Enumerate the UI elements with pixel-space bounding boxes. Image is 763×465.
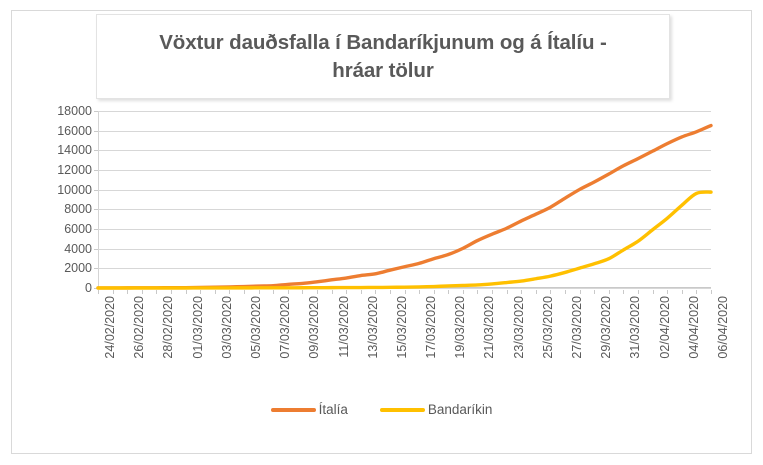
chart-title-line-1: Vöxtur dauðsfalla í Bandaríkjunum og á Í… [159,31,607,54]
x-axis-tick-mark [302,290,303,294]
y-axis-tick-label: 8000 [18,202,92,216]
x-axis-tick-label: 27/03/2020 [570,296,584,359]
x-axis-tick-mark [317,290,318,294]
legend-item[interactable]: Bandaríkin [380,402,493,417]
x-axis-tick-label: 03/03/2020 [220,296,234,359]
y-axis-tick-label: 16000 [18,124,92,138]
x-axis-tick-mark [594,290,595,294]
x-axis-tick-label: 28/02/2020 [161,296,175,359]
x-axis-tick-mark [507,290,508,294]
x-axis-tick-label: 04/04/2020 [687,296,701,359]
x-axis-tick-label: 07/03/2020 [278,296,292,359]
x-axis-tick-mark [477,290,478,294]
x-axis-tick-mark [536,290,537,294]
x-axis-tick-label: 11/03/2020 [337,296,351,358]
x-axis-tick-label: 26/02/2020 [132,296,146,359]
x-axis-tick-mark [156,290,157,294]
x-axis-tick-mark [186,290,187,294]
x-axis-tick-label: 05/03/2020 [249,296,263,359]
x-axis-tick-mark [696,290,697,294]
x-axis-tick-mark [361,290,362,294]
x-axis-tick-label: 29/03/2020 [599,296,613,359]
y-axis-tick-label: 12000 [18,163,92,177]
x-axis-tick-label: 06/04/2020 [716,296,730,359]
x-axis-tick-mark [244,290,245,294]
x-axis-tick-mark [653,290,654,294]
x-axis-tick-label: 24/02/2020 [103,296,117,359]
x-axis-tick-mark [171,290,172,294]
x-axis: 24/02/202026/02/202028/02/202001/03/2020… [98,290,711,390]
y-axis-tick-label: 0 [18,281,92,295]
x-axis-tick-mark [521,290,522,294]
y-axis-tick-label: 6000 [18,222,92,236]
x-axis-tick-mark [332,290,333,294]
x-axis-tick-label: 02/04/2020 [658,296,672,359]
x-axis-tick-label: 15/03/2020 [395,296,409,359]
x-axis-tick-mark [113,290,114,294]
x-axis-tick-mark [215,290,216,294]
plot-area [98,111,711,288]
x-axis-tick-label: 09/03/2020 [307,296,321,359]
x-axis-tick-mark [448,290,449,294]
x-axis-tick-mark [200,290,201,294]
x-axis-tick-mark [419,290,420,294]
x-axis-tick-mark [229,290,230,294]
page-title: Vöxtur dauðsfalla í Bandaríkjunum og á Í… [159,29,607,84]
x-axis-tick-mark [711,290,712,294]
y-axis-tick-label: 2000 [18,261,92,275]
x-axis-tick-mark [565,290,566,294]
y-axis-tick-label: 4000 [18,242,92,256]
legend-line-swatch-icon [271,408,316,412]
x-axis-tick-mark [273,290,274,294]
x-axis-tick-mark [682,290,683,294]
y-axis-tick-label: 18000 [18,104,92,118]
x-axis-tick-mark [375,290,376,294]
legend-line-swatch-icon [380,408,425,412]
x-axis-tick-mark [390,290,391,294]
y-axis-tick-label: 14000 [18,143,92,157]
x-axis-tick-mark [463,290,464,294]
x-axis-tick-mark [623,290,624,294]
legend-label: Bandaríkin [428,402,493,417]
x-axis-tick-mark [580,290,581,294]
x-axis-tick-mark [405,290,406,294]
y-axis-tick-label: 10000 [18,183,92,197]
x-axis-tick-label: 17/03/2020 [424,296,438,359]
x-axis-tick-mark [127,290,128,294]
x-axis-tick-mark [288,290,289,294]
x-axis-tick-label: 01/03/2020 [191,296,205,359]
chart-container: Vöxtur dauðsfalla í Bandaríkjunum og á Í… [0,0,763,465]
x-axis-tick-label: 19/03/2020 [453,296,467,359]
series-lines [98,111,711,288]
x-axis-tick-mark [550,290,551,294]
chart-title-line-2: hráar tölur [332,59,433,82]
x-axis-tick-mark [667,290,668,294]
x-axis-tick-mark [434,290,435,294]
legend-item[interactable]: Ítalía [271,402,348,417]
series-line--tal-a[interactable] [98,126,711,288]
y-axis: 0200040006000800010000120001400016000180… [18,104,92,295]
x-axis-tick-mark [98,290,99,294]
x-axis-tick-label: 25/03/2020 [541,296,555,359]
series-line-bandar-kin[interactable] [98,192,711,288]
x-axis-tick-mark [609,290,610,294]
x-axis-tick-mark [492,290,493,294]
x-axis-tick-mark [346,290,347,294]
x-axis-tick-label: 23/03/2020 [512,296,526,359]
x-axis-tick-label: 13/03/2020 [366,296,380,359]
x-axis-tick-mark [638,290,639,294]
chart-legend[interactable]: ÍtalíaBandaríkin [0,402,763,417]
chart-title-box[interactable]: Vöxtur dauðsfalla í Bandaríkjunum og á Í… [96,14,670,99]
x-axis-tick-label: 21/03/2020 [482,296,496,359]
x-axis-tick-mark [259,290,260,294]
x-axis-tick-label: 31/03/2020 [628,296,642,359]
legend-label: Ítalía [319,402,348,417]
x-axis-tick-mark [142,290,143,294]
